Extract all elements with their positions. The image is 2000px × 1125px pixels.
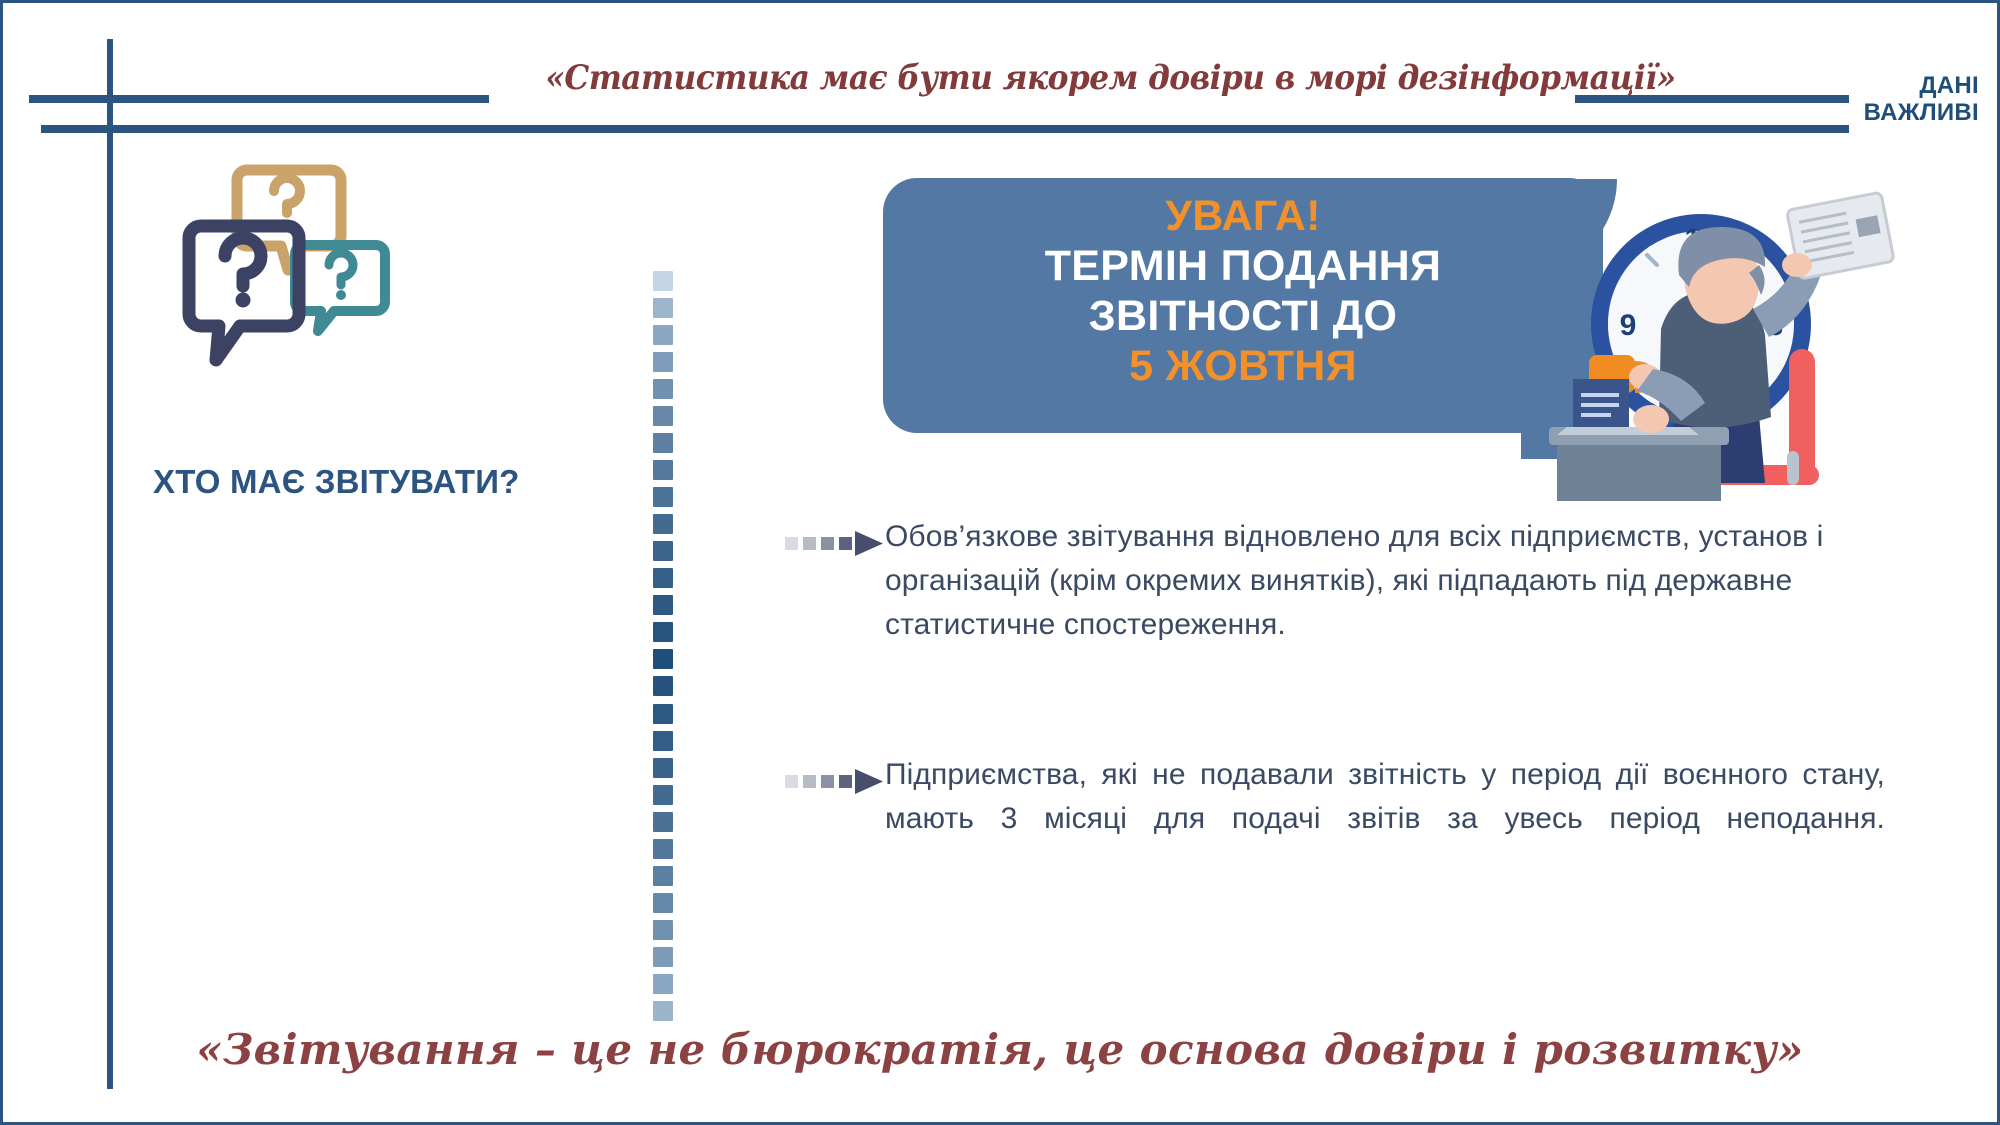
divider-dot (653, 812, 673, 832)
slide-root: «Статистика має бути якорем довіри в мор… (0, 0, 2000, 1125)
dotted-arrow-icon (785, 525, 885, 565)
bullet-text: Підприємства, які не подавали звітність … (885, 753, 1885, 885)
divider-dot (653, 325, 673, 345)
page-subheading: ХТО МАЄ ЗВІТУВАТИ? (153, 463, 520, 501)
svg-text:9: 9 (1620, 309, 1637, 342)
divider-dot (653, 622, 673, 642)
divider-dot (653, 758, 673, 778)
divider-dot (653, 406, 673, 426)
divider-dot (653, 839, 673, 859)
bullet-item: Обов’язкове звітування відновлено для вс… (785, 515, 1885, 647)
brand-line-1: ДАНІ (1864, 73, 1979, 100)
brand-line-2: ВАЖЛИВІ (1864, 100, 1979, 127)
divider-dot (653, 271, 673, 291)
divider-dot (653, 460, 673, 480)
divider-dot (653, 920, 673, 940)
question-speech-bubbles-icon (153, 153, 393, 373)
divider-dot (653, 595, 673, 615)
brand-lockup: ДАНІ ВАЖЛИВІ (1864, 73, 1979, 127)
divider-dot (653, 514, 673, 534)
divider-dot (653, 487, 673, 507)
divider-dot (653, 947, 673, 967)
divider-dot (653, 866, 673, 886)
decorative-rule-lower (41, 125, 1849, 133)
footer-quote: «Звітування – це не бюрократія, це основ… (3, 1025, 1997, 1074)
callout-line-3: ЗВІТНОСТІ ДО (913, 292, 1573, 342)
divider-dot (653, 433, 673, 453)
divider-dot (653, 974, 673, 994)
divider-dot (653, 785, 673, 805)
decorative-vertical-rule (107, 39, 113, 1089)
callout-attention-label: УВАГА! (913, 192, 1573, 242)
divider-dot (653, 704, 673, 724)
header-quote: «Статистика має бути якорем довіри в мор… (545, 58, 1520, 98)
callout-line-2: ТЕРМІН ПОДАННЯ (913, 242, 1573, 292)
divider-dot (653, 893, 673, 913)
decorative-rule-left-upper (29, 95, 489, 103)
divider-dot (653, 352, 673, 372)
divider-dot (653, 1001, 673, 1021)
divider-dot (653, 731, 673, 751)
bullet-text: Обов’язкове звітування відновлено для вс… (885, 515, 1885, 647)
divider-dot (653, 298, 673, 318)
divider-dot (653, 676, 673, 696)
bullet-item: Підприємства, які не подавали звітність … (785, 753, 1885, 885)
dotted-arrow-icon (785, 763, 885, 803)
divider-dot (653, 379, 673, 399)
divider-dot (653, 649, 673, 669)
deadline-callout: УВАГА! ТЕРМІН ПОДАННЯ ЗВІТНОСТІ ДО 5 ЖОВ… (883, 178, 1603, 433)
divider-dot (653, 568, 673, 588)
busy-worker-illustration: 12 9 3 (1521, 179, 1941, 509)
dotted-vertical-divider (653, 271, 673, 1021)
callout-deadline-date: 5 ЖОВТНЯ (913, 342, 1573, 392)
divider-dot (653, 541, 673, 561)
